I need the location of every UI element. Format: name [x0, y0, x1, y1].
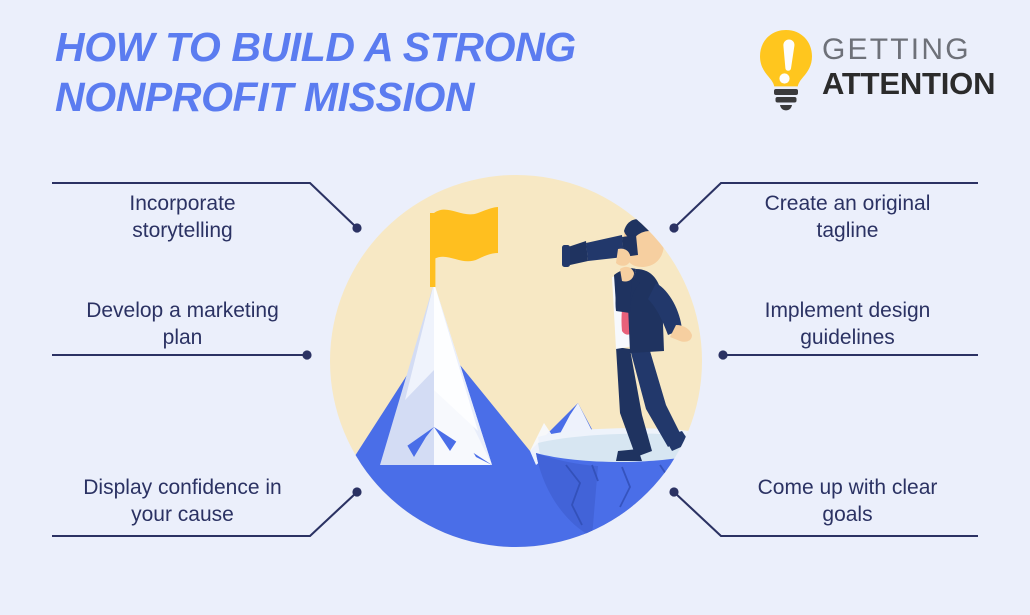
- label-develop-marketing-plan: Develop a marketing plan: [40, 297, 325, 351]
- label-come-up-with-clear-goals: Come up with clear goals: [705, 474, 990, 528]
- label-incorporate-storytelling: Incorporate storytelling: [40, 190, 325, 244]
- connector-dot-right-2: [718, 350, 727, 359]
- mountain-summit-illustration: [330, 165, 702, 557]
- label-create-original-tagline: Create an original tagline: [705, 190, 990, 244]
- connector-dot-left-2: [302, 350, 311, 359]
- label-implement-design-guidelines: Implement design guidelines: [705, 297, 990, 351]
- infographic-canvas: How to Build a Strong Nonprofit Mission …: [0, 0, 1030, 615]
- label-display-confidence: Display confidence in your cause: [40, 474, 325, 528]
